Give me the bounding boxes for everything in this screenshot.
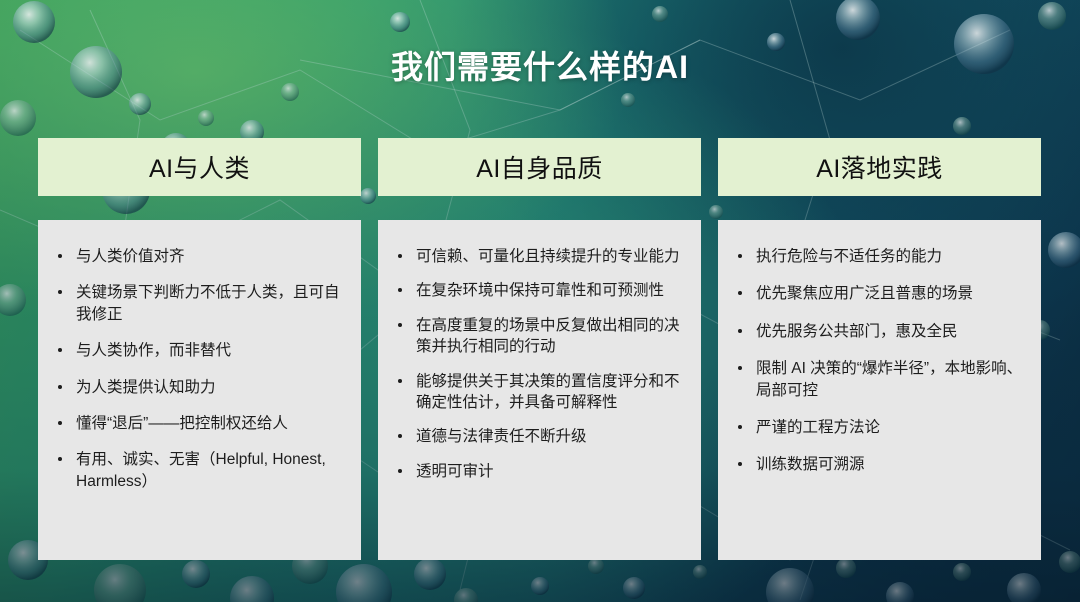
list-item: 为人类提供认知助力 xyxy=(50,377,347,398)
bullet-list-3: 执行危险与不适任务的能力 优先聚焦应用广泛且普惠的场景 优先服务公共部门，惠及全… xyxy=(730,246,1027,476)
presentation-slide: 我们需要什么样的AI AI与人类 与人类价值对齐 关键场景下判断力不低于人类，且… xyxy=(0,0,1080,602)
bullet-list-1: 与人类价值对齐 关键场景下判断力不低于人类，且可自我修正 与人类协作，而非替代 … xyxy=(50,246,347,492)
list-item: 关键场景下判断力不低于人类，且可自我修正 xyxy=(50,282,347,325)
list-item: 透明可审计 xyxy=(390,461,687,482)
list-item: 在高度重复的场景中反复做出相同的决策并执行相同的行动 xyxy=(390,315,687,358)
list-item: 懂得“退后”——把控制权还给人 xyxy=(50,413,347,434)
list-item: 严谨的工程方法论 xyxy=(730,417,1027,438)
list-item: 与人类协作，而非替代 xyxy=(50,340,347,361)
column-body-2: 可信赖、可量化且持续提升的专业能力 在复杂环境中保持可靠性和可预测性 在高度重复… xyxy=(378,220,701,560)
columns-container: AI与人类 与人类价值对齐 关键场景下判断力不低于人类，且可自我修正 与人类协作… xyxy=(38,138,1042,560)
column-body-3: 执行危险与不适任务的能力 优先聚焦应用广泛且普惠的场景 优先服务公共部门，惠及全… xyxy=(718,220,1041,560)
list-item: 道德与法律责任不断升级 xyxy=(390,426,687,447)
column-ai-and-humans: AI与人类 与人类价值对齐 关键场景下判断力不低于人类，且可自我修正 与人类协作… xyxy=(38,138,361,560)
bullet-list-2: 可信赖、可量化且持续提升的专业能力 在复杂环境中保持可靠性和可预测性 在高度重复… xyxy=(390,246,687,482)
list-item: 优先聚焦应用广泛且普惠的场景 xyxy=(730,283,1027,304)
list-item: 限制 AI 决策的“爆炸半径”，本地影响、局部可控 xyxy=(730,358,1027,401)
column-body-1: 与人类价值对齐 关键场景下判断力不低于人类，且可自我修正 与人类协作，而非替代 … xyxy=(38,220,361,560)
list-item: 有用、诚实、无害（Helpful, Honest, Harmless） xyxy=(50,449,347,492)
page-title: 我们需要什么样的AI xyxy=(0,42,1080,88)
list-item: 训练数据可溯源 xyxy=(730,454,1027,475)
list-item: 与人类价值对齐 xyxy=(50,246,347,267)
column-ai-deployment-practice: AI落地实践 执行危险与不适任务的能力 优先聚焦应用广泛且普惠的场景 优先服务公… xyxy=(718,138,1041,560)
list-item: 在复杂环境中保持可靠性和可预测性 xyxy=(390,280,687,301)
column-header-2: AI自身品质 xyxy=(378,138,701,196)
list-item: 可信赖、可量化且持续提升的专业能力 xyxy=(390,246,687,267)
column-header-1: AI与人类 xyxy=(38,138,361,196)
list-item: 能够提供关于其决策的置信度评分和不确定性估计，并具备可解释性 xyxy=(390,371,687,414)
column-ai-intrinsic-qualities: AI自身品质 可信赖、可量化且持续提升的专业能力 在复杂环境中保持可靠性和可预测… xyxy=(378,138,701,560)
list-item: 执行危险与不适任务的能力 xyxy=(730,246,1027,267)
list-item: 优先服务公共部门，惠及全民 xyxy=(730,321,1027,342)
column-header-3: AI落地实践 xyxy=(718,138,1041,196)
